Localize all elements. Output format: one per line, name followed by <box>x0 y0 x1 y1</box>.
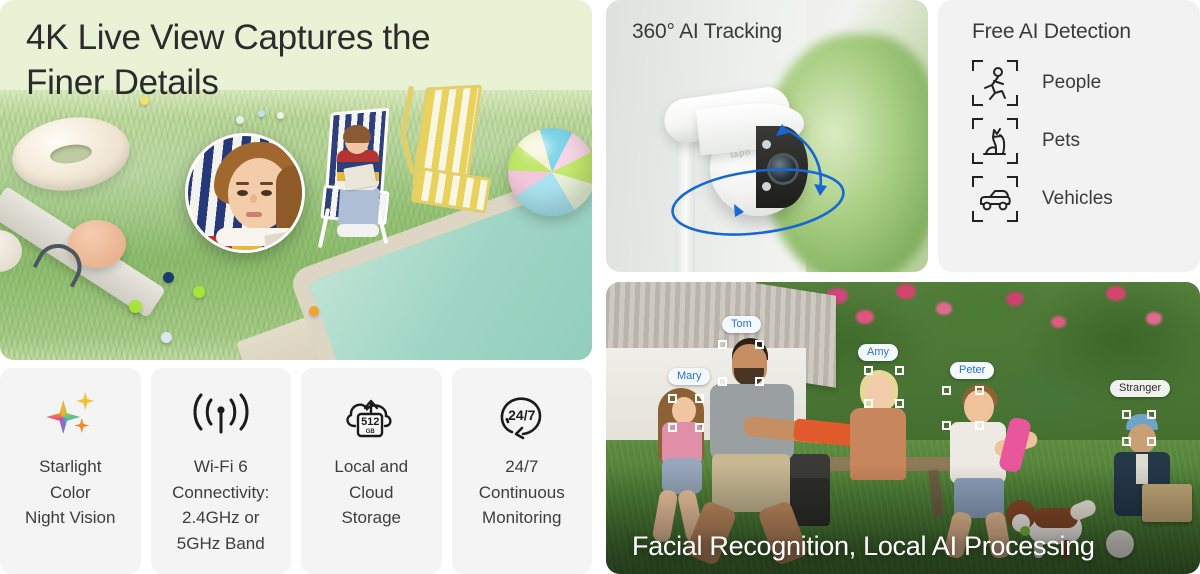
sparkle-small-bottom <box>74 418 89 433</box>
zoom-eye-right <box>261 190 272 196</box>
starlight-sparkle-icon <box>38 390 102 442</box>
storage-capacity-value: 512 <box>361 417 379 428</box>
ring-hole <box>49 142 93 166</box>
product-feature-collage: 4K Live View Captures the Finer Details … <box>0 0 1200 574</box>
feature-card-wifi6: Wi-Fi 6 Connectivity: 2.4GHz or 5GHz Ban… <box>151 368 292 574</box>
bracket-tl <box>718 340 727 349</box>
wifi-antenna-icon <box>189 390 253 442</box>
zoom-brow-left <box>236 182 249 185</box>
vehicles-detection-icon <box>972 176 1018 222</box>
bracket-bl <box>718 377 727 386</box>
storage-capacity-unit: GB <box>366 429 375 435</box>
pets-detection-icon <box>972 118 1018 164</box>
bracket-tr <box>755 340 764 349</box>
feature-label-line: Night Vision <box>25 505 115 531</box>
people-detection-icon <box>972 60 1018 106</box>
feature-card-monitoring: 24/7 24/7 Continuous Monitoring <box>452 368 593 574</box>
tracking-panel-title: 360° AI Tracking <box>632 20 782 44</box>
detection-item-vehicles: Vehicles <box>972 170 1200 228</box>
feature-card-starlight: Starlight Color Night Vision <box>0 368 141 574</box>
detection-item-label: People <box>1042 72 1101 94</box>
hero-title: 4K Live View Captures the Finer Details <box>26 16 546 106</box>
bracket-br <box>895 399 904 408</box>
detection-item-people: People <box>972 54 1200 112</box>
feature-card-storage: 512 GB Local and Cloud Storage <box>301 368 442 574</box>
face-tag-stranger[interactable]: Stranger <box>1110 380 1170 397</box>
bracket-bl <box>1122 437 1131 446</box>
lawn-ball <box>277 112 284 119</box>
feature-label-line: Wi-Fi 6 <box>172 454 269 480</box>
face-tag-amy[interactable]: Amy <box>858 344 898 361</box>
feature-label-line: 2.4GHz or <box>172 505 269 531</box>
ir-led <box>762 140 771 149</box>
detection-item-label: Pets <box>1042 130 1080 152</box>
bracket-tr <box>1147 410 1156 419</box>
hero-title-line-1: 4K Live View Captures the <box>26 16 546 61</box>
detection-item-pets: Pets <box>972 112 1200 170</box>
feature-card-row: Starlight Color Night Vision Wi-Fi 6 Con… <box>0 368 592 574</box>
bracket-tr <box>975 386 984 395</box>
child-reading <box>329 128 389 238</box>
lawn-ball <box>258 110 265 117</box>
blossom <box>1106 286 1126 301</box>
monitoring-badge-value: 24/7 <box>508 407 535 423</box>
face-box-mary <box>668 394 704 432</box>
bracket-br <box>755 377 764 386</box>
lawn-ball <box>129 300 142 313</box>
facial-recognition-panel: Mary Tom <box>606 282 1200 574</box>
bracket-tr <box>695 394 704 403</box>
bracket-tl <box>942 386 951 395</box>
lawn-ball <box>193 286 205 298</box>
ir-led <box>762 182 771 191</box>
feature-label-line: Color <box>25 480 115 506</box>
beach-ball <box>508 128 592 216</box>
face-box-tom <box>718 340 764 386</box>
bracket-bl <box>864 399 873 408</box>
face-box-stranger <box>1122 410 1156 446</box>
bracket-tl <box>864 366 873 375</box>
feature-label-line: 5GHz Band <box>172 531 269 557</box>
zoom-detail-circle <box>185 133 305 253</box>
zoom-eye-left <box>237 190 248 196</box>
bracket-bl <box>668 423 677 432</box>
blossom <box>936 302 952 315</box>
ai-tracking-panel: tapo 360° AI Tracking <box>606 0 928 272</box>
feature-label-line: Connectivity: <box>172 480 269 506</box>
feature-label-line: Continuous <box>479 480 565 506</box>
face-box-peter <box>942 386 984 430</box>
child-shoes <box>337 224 379 237</box>
face-tag-peter[interactable]: Peter <box>950 362 994 379</box>
feature-card-label: Local and Cloud Storage <box>328 454 414 531</box>
feature-label-line: Cloud <box>334 480 408 506</box>
bracket-br <box>1147 437 1156 446</box>
bracket-br <box>695 423 704 432</box>
bracket-tl <box>1122 410 1131 419</box>
face-box-amy <box>864 366 904 408</box>
child-legs <box>338 185 381 230</box>
cloud-sdcard-icon: 512 GB <box>339 390 403 442</box>
sparkle-small-top <box>76 392 94 410</box>
zoom-mouth <box>246 212 262 217</box>
bracket-tl <box>668 394 677 403</box>
blossom <box>1006 292 1024 306</box>
zoom-brow-right <box>260 182 273 185</box>
blossom <box>1051 316 1066 328</box>
bracket-bl <box>942 421 951 430</box>
lawn-ball <box>309 306 319 316</box>
lawn-ball <box>163 272 174 283</box>
blossom <box>1146 312 1162 325</box>
hero-title-line-2: Finer Details <box>26 61 546 106</box>
feature-label-line: Monitoring <box>479 505 565 531</box>
hero-4k-live-view-panel: 4K Live View Captures the Finer Details <box>0 0 592 360</box>
face-tag-tom[interactable]: Tom <box>722 316 761 333</box>
child-hair <box>343 125 371 143</box>
detection-panel-title: Free AI Detection <box>972 20 1200 44</box>
feature-card-label: Starlight Color Night Vision <box>19 454 121 531</box>
blossom <box>856 310 874 324</box>
blossom <box>896 284 916 299</box>
feature-label-line: Storage <box>334 505 408 531</box>
feature-label-line: Local and <box>334 454 408 480</box>
sparkle-large <box>46 400 80 434</box>
camera-lens <box>770 156 796 182</box>
ai-detection-panel: Free AI Detection People <box>938 0 1200 272</box>
bracket-tr <box>895 366 904 375</box>
yellow-deck-chair <box>405 86 497 226</box>
camera-lens-band <box>756 126 808 208</box>
feature-label-line: Starlight <box>25 454 115 480</box>
feature-card-label: Wi-Fi 6 Connectivity: 2.4GHz or 5GHz Ban… <box>166 454 275 556</box>
zoom-nose <box>250 194 257 203</box>
facial-panel-caption: Facial Recognition, Local AI Processing <box>632 531 1095 562</box>
lawn-ball <box>236 116 244 124</box>
bracket-br <box>975 421 984 430</box>
feature-label-line: 24/7 <box>479 454 565 480</box>
lawn-ball <box>161 332 172 343</box>
chair-seat <box>411 166 492 213</box>
detection-item-label: Vehicles <box>1042 188 1113 210</box>
twentyfourseven-loop-icon: 24/7 <box>490 390 554 442</box>
feature-card-label: 24/7 Continuous Monitoring <box>473 454 571 531</box>
